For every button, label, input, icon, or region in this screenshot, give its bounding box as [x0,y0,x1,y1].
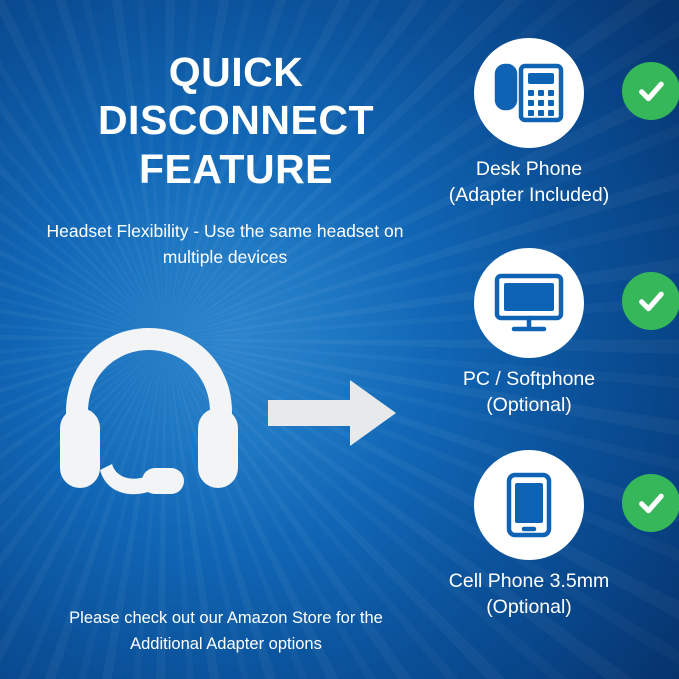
footer-note: Please check out our Amazon Store for th… [26,606,426,657]
subtitle-line-1: Headset Flexibility - Use the same heads… [22,218,428,244]
device-label-desk-phone: Desk Phone (Adapter Included) [380,156,678,209]
subtitle-line-2: multiple devices [22,244,428,270]
device-label-line-2: (Optional) [380,392,678,418]
promo-image: QUICK DISCONNECT FEATURE Headset Flexibi… [0,0,679,679]
status-badge-check [622,62,679,120]
headset-icon [44,320,254,510]
page-title: QUICK DISCONNECT FEATURE [36,48,436,193]
monitor-icon [474,248,584,358]
desk-phone-icon [474,38,584,148]
status-badge-check [622,474,679,532]
cell-phone-icon [474,450,584,560]
footer-line-1: Please check out our Amazon Store for th… [26,606,426,632]
device-label-line-1: PC / Softphone [463,368,595,390]
title-line-1: QUICK DISCONNECT [36,48,436,145]
title-line-2: FEATURE [36,145,436,193]
subtitle: Headset Flexibility - Use the same heads… [22,218,428,271]
device-label-line-1: Cell Phone 3.5mm [449,570,609,592]
device-label-line-2: (Adapter Included) [380,182,678,208]
status-badge-check [622,272,679,330]
device-label-line-1: Desk Phone [476,158,582,180]
footer-line-2: Additional Adapter options [26,632,426,658]
device-label-pc-softphone: PC / Softphone (Optional) [380,366,678,419]
right-arrow-icon [268,378,396,448]
